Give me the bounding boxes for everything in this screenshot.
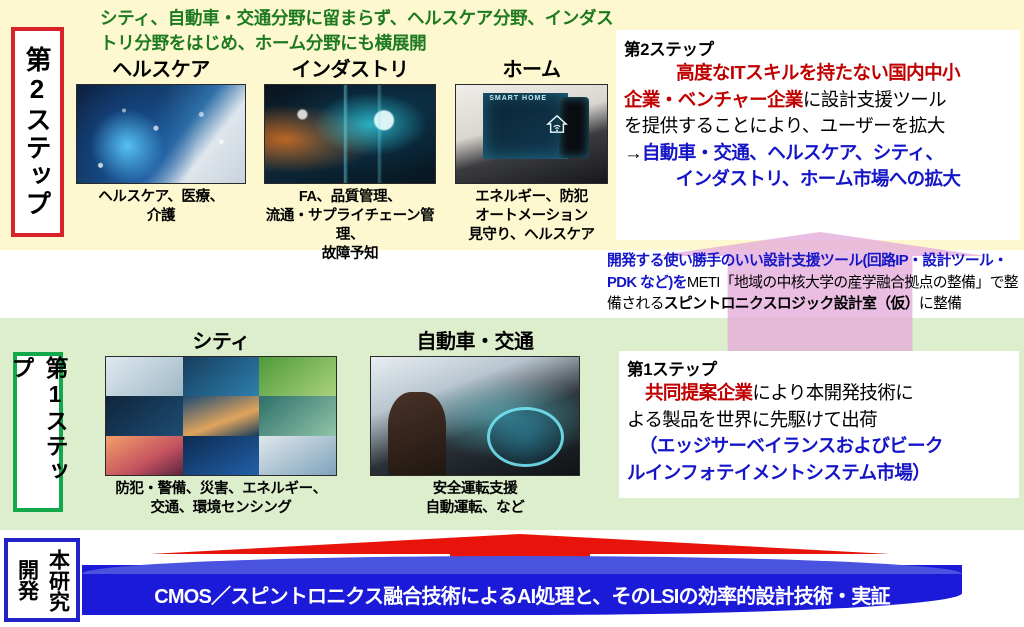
card-city-title: シティ: [105, 330, 337, 354]
card-home: ホーム SMART HOME エネルギー、防犯 オートメーション 見守り、ヘルス…: [455, 58, 608, 245]
card-industry: インダストリ FA、品質管理、 流通・サプライチェーン管理、 故障予知: [264, 58, 436, 264]
card-industry-title: インダストリ: [264, 58, 436, 82]
step2-box-label: 第2ステップ: [624, 36, 1012, 60]
research-development-tag: 本研究 開発: [4, 538, 80, 622]
step1-line2: よる製品を世界に先駆けて出荷: [627, 409, 877, 430]
step2-vertical-tag: 第2ステップ: [11, 27, 64, 237]
step2-line4: 自動車・交通、ヘルスケア、シティ、: [642, 142, 943, 163]
step2-body: 高度なITスキルを持たない国内中小 企業・ベンチャー企業に設計支援ツール を提供…: [624, 60, 1012, 193]
industry-photo: [264, 84, 436, 184]
bottom-banner-text: CMOS／スピントロニクス融合技術によるAI処理と、そのLSIの効率的設計技術・…: [154, 572, 890, 609]
diagram-canvas: 第2ステップ シティ、自動車・交通分野に留まらず、ヘルスケア分野、インダストリ分…: [0, 0, 1024, 627]
step1-line3: （エッジサーベイランスおよびビーク: [639, 435, 943, 456]
card-mobility-caption: 安全運転支援 自動運転、など: [370, 480, 580, 518]
bottom-banner-top-ellipse: [82, 556, 962, 574]
card-home-caption: エネルギー、防犯 オートメーション 見守り、ヘルスケア: [455, 188, 608, 245]
card-city: シティ 防犯・警備、災害、エネルギー、 交通、環境センシング: [105, 330, 337, 518]
step2-line1: 高度なITスキルを持たない国内中小: [676, 62, 960, 83]
meti-note-text: 開発する使い勝手のいい設計支援ツール(回路IP・設計ツール・PDK など)をME…: [607, 251, 1019, 316]
meti-note-segment-4: に整備: [919, 296, 962, 312]
step2-line2-black: に設計支援ツール: [803, 89, 946, 110]
step2-line2-red: 企業・ベンチャー企業: [624, 89, 803, 110]
card-healthcare: ヘルスケア ヘルスケア、医療、 介護: [76, 58, 246, 226]
smart-home-overlay-label: SMART HOME: [489, 95, 547, 102]
card-healthcare-caption: ヘルスケア、医療、 介護: [76, 188, 246, 226]
card-mobility-title: 自動車・交通: [370, 330, 580, 354]
research-tag-col1: 本研究: [43, 549, 73, 612]
research-tag-col2: 開発: [12, 559, 42, 601]
step1-description-box: 第1ステップ 共同提案企業により本開発技術に よる製品を世界に先駆けて出荷 （エ…: [619, 351, 1019, 498]
card-healthcare-title: ヘルスケア: [76, 58, 246, 82]
card-city-caption: 防犯・警備、災害、エネルギー、 交通、環境センシング: [105, 480, 337, 518]
step1-line4: ルインフォテイメントシステム市場）: [627, 462, 930, 483]
card-industry-caption: FA、品質管理、 流通・サプライチェーン管理、 故障予知: [264, 188, 436, 264]
step1-box-label: 第1ステップ: [627, 356, 1011, 380]
step1-line1-black: により本開発技術に: [752, 382, 913, 403]
meti-note-segment-3: スピントロニクスロジック設計室（仮）: [664, 296, 919, 312]
step1-line1-red: 共同提案企業: [645, 382, 752, 403]
step2-description-box: 第2ステップ 高度なITスキルを持たない国内中小 企業・ベンチャー企業に設計支援…: [616, 30, 1020, 240]
healthcare-photo: [76, 84, 246, 184]
city-mosaic-photo: [105, 356, 337, 476]
headline-text: シティ、自動車・交通分野に留まらず、ヘルスケア分野、インダストリ分野をはじめ、ホ…: [100, 6, 620, 56]
card-home-title: ホーム: [455, 58, 608, 82]
step1-vertical-tag: 第1ステップ: [13, 352, 63, 512]
home-wifi-icon: [546, 114, 568, 134]
autonomous-car-photo: [370, 356, 580, 476]
step2-line5: インダストリ、ホーム市場への拡大: [676, 168, 961, 189]
step1-tag-label: 第1ステップ: [4, 356, 72, 508]
bottom-banner-cylinder: CMOS／スピントロニクス融合技術によるAI処理と、そのLSIの効率的設計技術・…: [82, 556, 962, 616]
step2-arrow-glyph: →: [624, 142, 642, 163]
smart-home-photo: SMART HOME: [455, 84, 608, 184]
step2-tag-label: 第2ステップ: [19, 46, 56, 218]
card-mobility: 自動車・交通 安全運転支援 自動運転、など: [370, 330, 580, 518]
step1-body: 共同提案企業により本開発技術に よる製品を世界に先駆けて出荷 （エッジサーベイラ…: [627, 380, 1011, 486]
step2-line3: を提供することにより、ユーザーを拡大: [624, 115, 945, 136]
